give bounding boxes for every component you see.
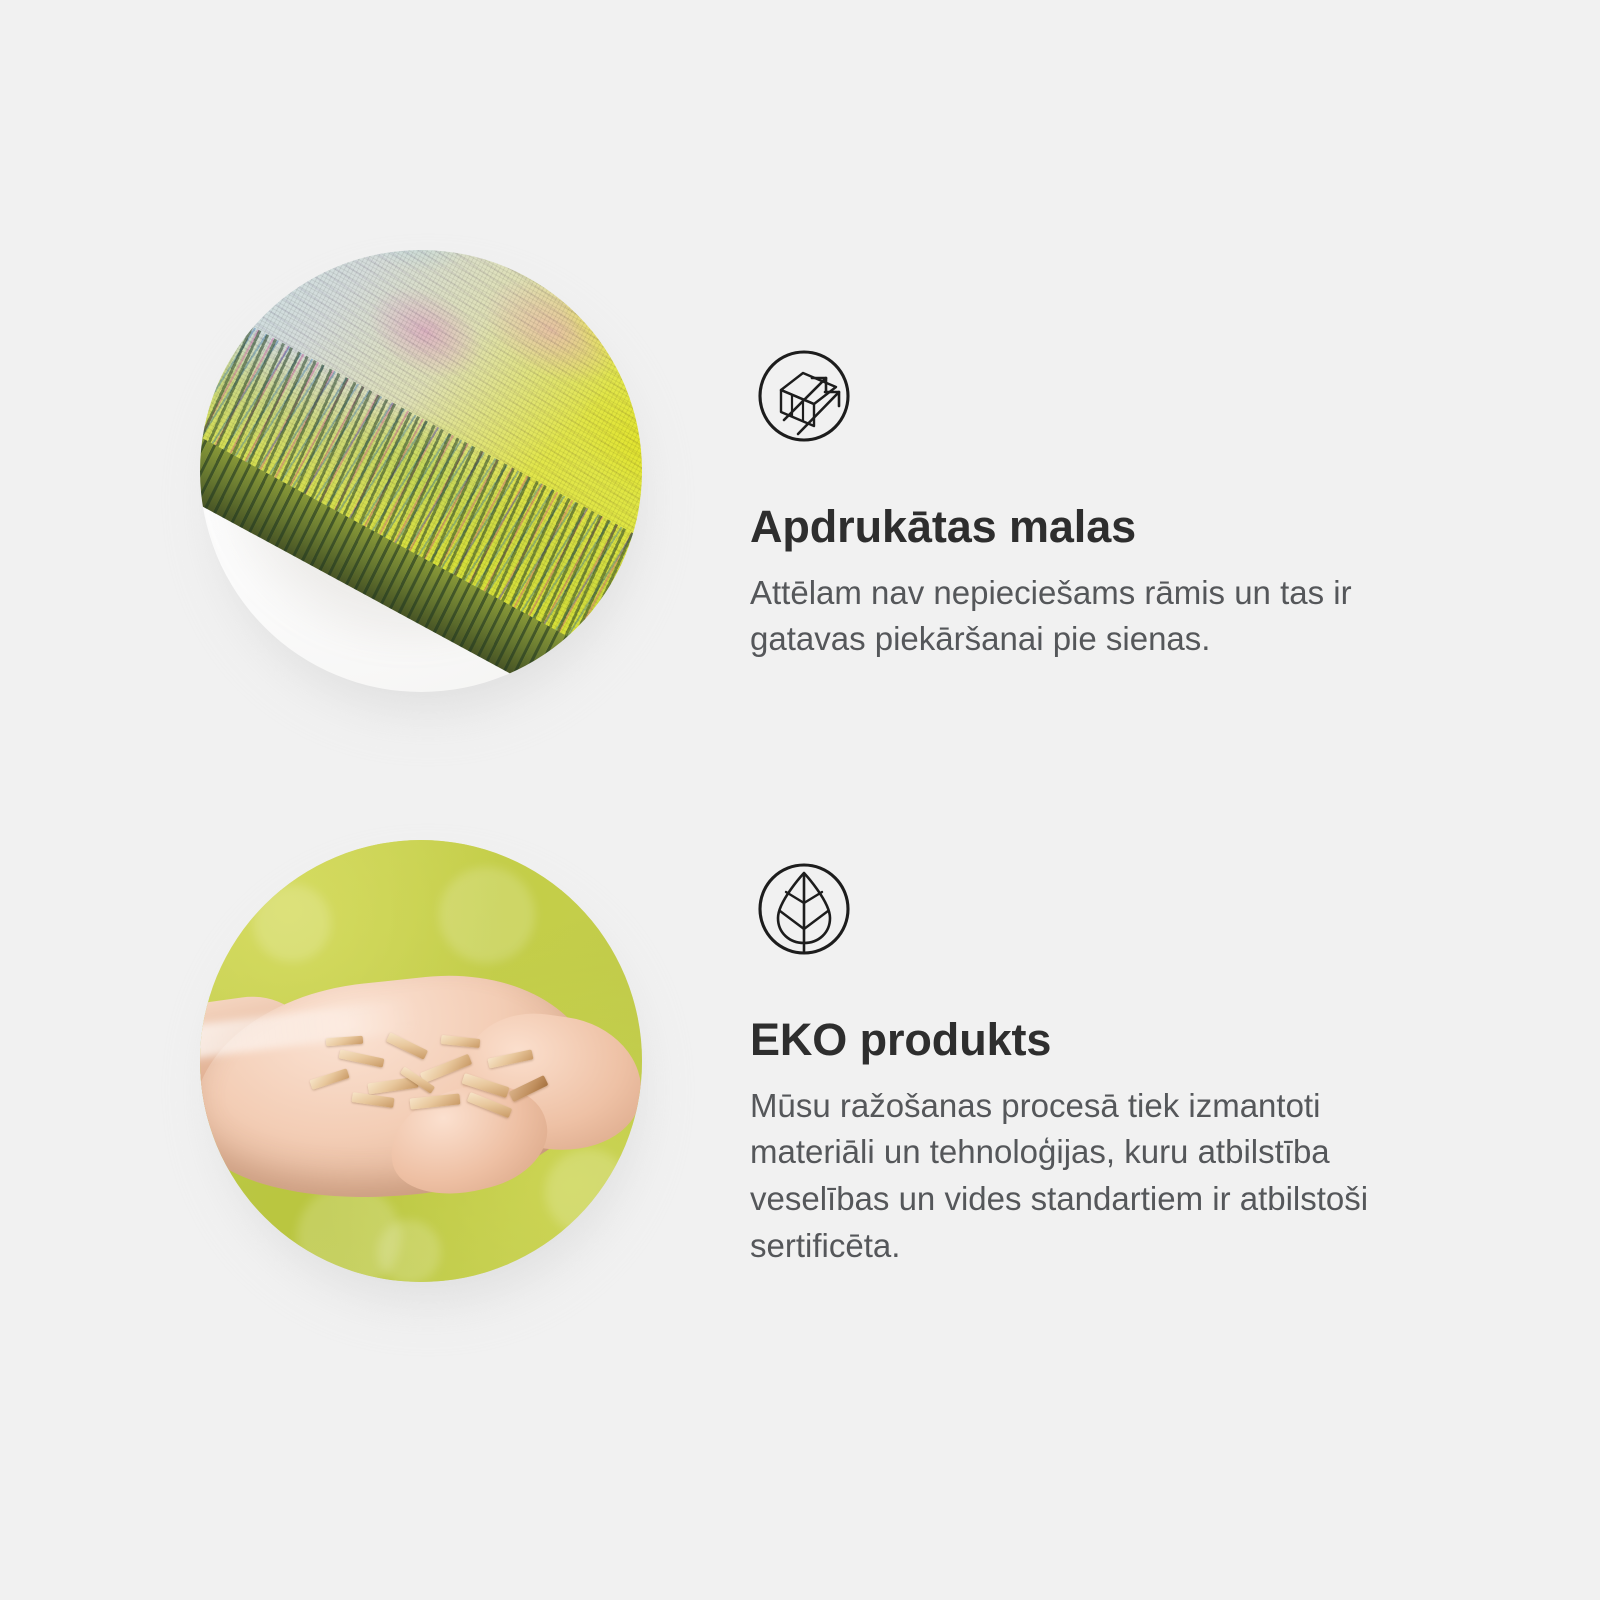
feature-image-printed-edges [200, 250, 650, 700]
eco-wood-chips-photo [200, 840, 642, 1282]
feature-image-eco-product [200, 840, 650, 1290]
wood-chips-pile [305, 1032, 567, 1124]
wood-chip [509, 1075, 549, 1102]
feature-title: EKO produkts [750, 1015, 1490, 1065]
feature-description: Attēlam nav nepieciešams rāmis un tas ir… [750, 570, 1450, 664]
feature-block-printed-edges: Apdrukātas malas Attēlam nav nepieciešam… [0, 250, 1600, 770]
wood-chip [351, 1092, 394, 1108]
wood-chip [441, 1035, 481, 1048]
wood-chip [338, 1049, 384, 1067]
feature-description: Mūsu ražošanas procesā tiek izmantoti ma… [750, 1083, 1450, 1270]
feature-block-eco-product: EKO produkts Mūsu ražošanas procesā tiek… [0, 840, 1600, 1360]
feature-text-eco-product: EKO produkts Mūsu ražošanas procesā tiek… [750, 855, 1490, 1270]
wood-chip [488, 1049, 534, 1068]
bokeh-dot [377, 1220, 441, 1282]
wood-chip [325, 1036, 362, 1047]
wood-chip [309, 1068, 350, 1090]
bokeh-dot [253, 884, 331, 962]
wood-chip [409, 1094, 460, 1110]
printed-edges-icon [750, 342, 858, 450]
feature-text-printed-edges: Apdrukātas malas Attēlam nav nepieciešam… [750, 342, 1490, 663]
hands-holding-chips [200, 955, 642, 1211]
feature-list-page: Apdrukātas malas Attēlam nav nepieciešam… [0, 0, 1600, 1600]
bokeh-dot [439, 867, 535, 963]
circular-image-mask [200, 250, 642, 692]
feature-title: Apdrukātas malas [750, 502, 1490, 552]
leaf-icon [750, 855, 858, 963]
canvas-print-corner-photo [200, 250, 642, 692]
circular-image-mask [200, 840, 642, 1282]
wood-chip [386, 1032, 428, 1060]
